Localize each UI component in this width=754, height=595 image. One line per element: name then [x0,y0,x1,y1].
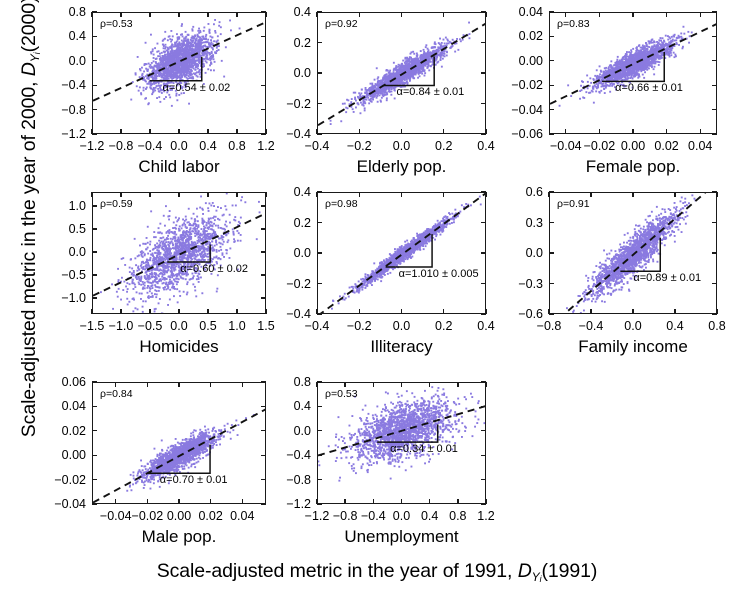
y-tick-right [481,503,486,504]
x-axis-label-variable: D [518,560,532,582]
x-tick-label: 0.8 [449,509,466,523]
y-tick-label: 0.8 [265,375,311,389]
slope-label: α=0.34 ± 0.01 [390,443,458,455]
x-axis-label: Scale-adjusted metric in the year of 199… [0,560,754,584]
y-tick [317,479,322,480]
y-tick-right [481,430,486,431]
y-tick [317,503,322,504]
x-tick-top [401,382,402,387]
x-tick-label: −1.2 [305,509,330,523]
y-tick-label: −0.8 [265,473,311,487]
y-tick-label: 0.4 [265,399,311,413]
y-tick [317,381,322,382]
x-tick [373,499,374,504]
y-tick-right [481,381,486,382]
x-tick-label: 1.2 [477,509,494,523]
y-tick [317,455,322,456]
y-tick-label: 0.0 [265,424,311,438]
x-tick-top [429,382,430,387]
x-tick-label: 0.0 [393,509,410,523]
x-tick-top [373,382,374,387]
x-tick-label: −0.8 [333,509,358,523]
panel-unemployment: −1.2−0.8−0.40.00.40.81.2−1.2−0.8−0.40.00… [0,0,754,560]
x-tick-label: −0.4 [361,509,386,523]
x-tick-label: 0.4 [421,509,438,523]
y-tick-right [481,406,486,407]
x-tick [457,499,458,504]
y-tick [317,430,322,431]
x-tick-top [316,382,317,387]
x-axis-label-subscript: Y [532,570,540,584]
y-tick [317,406,322,407]
x-tick-top [344,382,345,387]
y-tick-right [481,479,486,480]
x-axis-label-text: Scale-adjusted metric in the year of 199… [157,560,518,582]
x-tick [344,499,345,504]
y-tick-right [481,455,486,456]
x-tick [429,499,430,504]
x-tick [401,499,402,504]
panel-title: Unemployment [277,527,526,547]
panel-grid: −1.2−0.8−0.40.00.40.81.2−1.2−0.8−0.40.00… [0,0,754,560]
x-tick-top [457,382,458,387]
x-tick-top [485,382,486,387]
correlation-label: ρ=0.53 [325,388,358,400]
x-axis-label-year: (1991) [542,560,598,582]
y-tick-label: −0.4 [265,448,311,462]
y-tick-label: −1.2 [265,497,311,511]
